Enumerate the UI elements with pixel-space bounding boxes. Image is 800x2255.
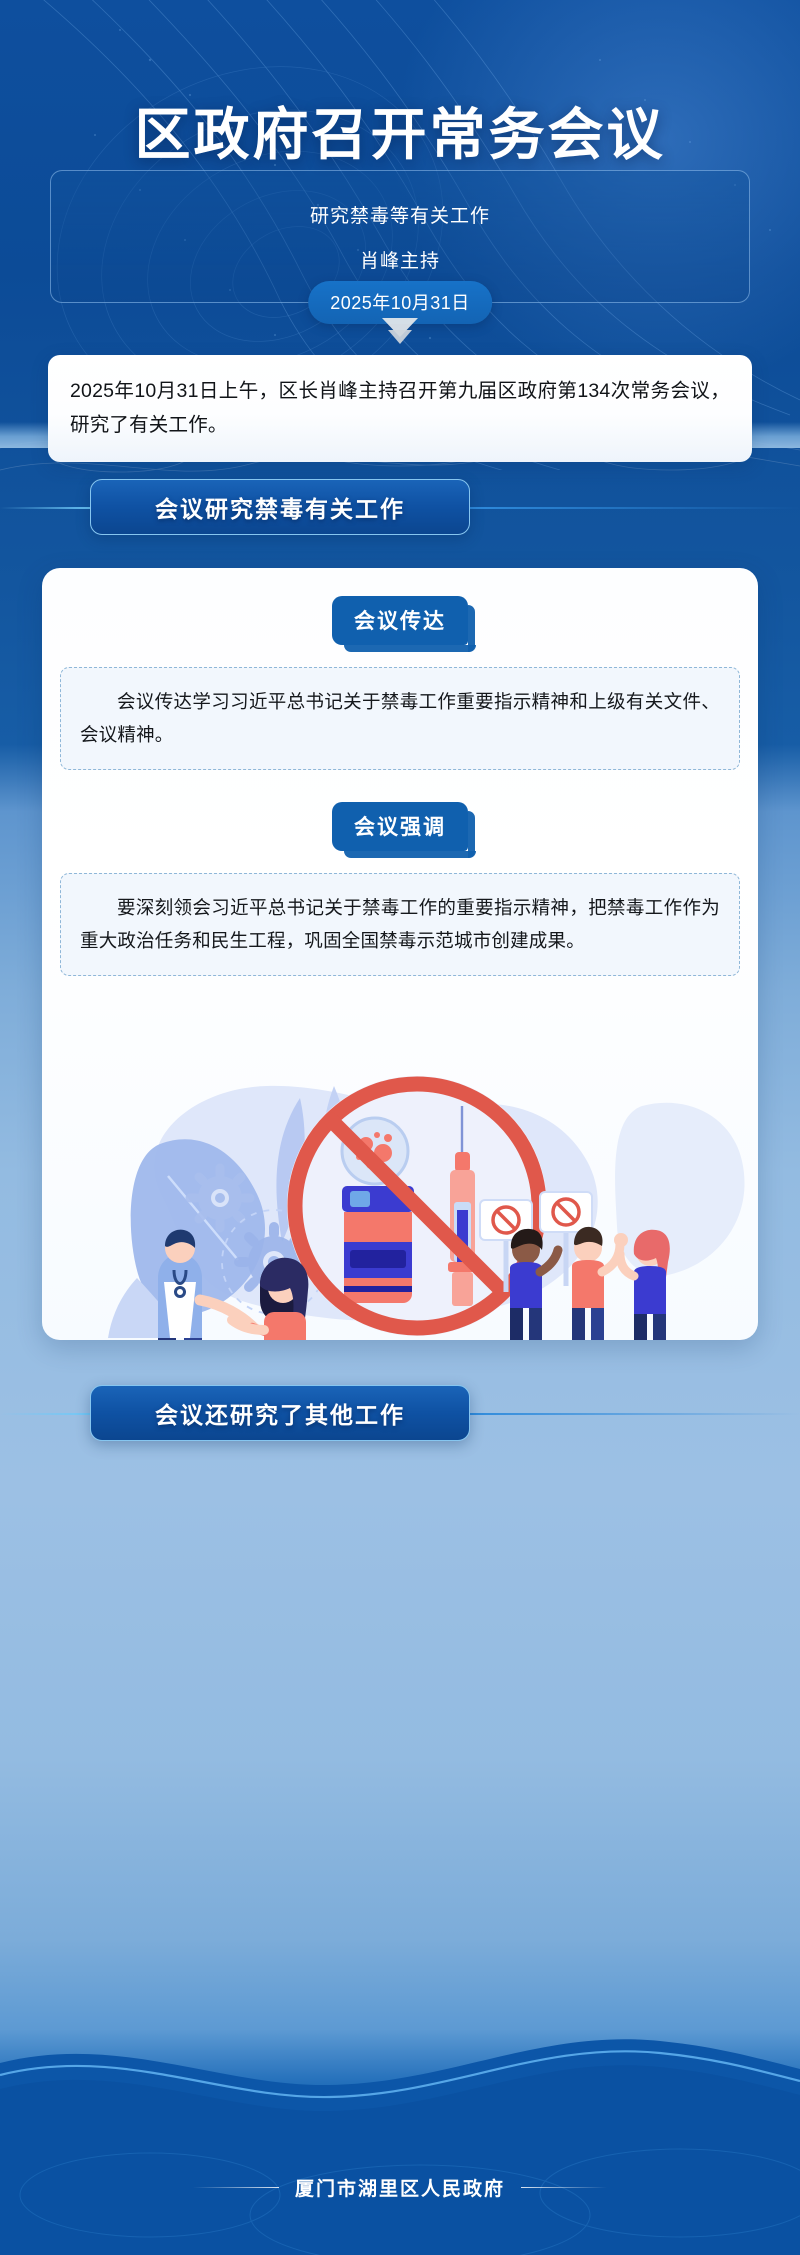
summary-card: 2025年10月31日上午，区长肖峰主持召开第九届区政府第134次常务会议，研究…: [48, 355, 752, 462]
subject-line-1: 研究禁毒等有关工作: [51, 201, 749, 228]
footer-wave: [0, 2025, 800, 2255]
footer: 厦门市湖里区人民政府: [0, 2174, 800, 2201]
subject-line-2: 肖峰主持: [51, 246, 749, 273]
dashed-text-emphasize: 要深刻领会习近平总书记关于禁毒工作的重要指示精神，把禁毒工作作为重大政治任务和民…: [80, 891, 720, 957]
content-card: 会议传达 会议传达学习习近平总书记关于禁毒工作重要指示精神和上级有关文件、会议精…: [42, 568, 758, 1340]
section-banner-label-2: 会议还研究了其他工作: [155, 1396, 405, 1430]
tag-row-transmit: 会议传达: [42, 596, 758, 645]
summary-text: 2025年10月31日上午，区长肖峰主持召开第九届区政府第134次常务会议，研究…: [70, 374, 730, 442]
banner-rule-left-1: [0, 507, 96, 509]
tag-meeting-transmit: 会议传达: [332, 596, 468, 645]
section-banner-other-work: 会议还研究了其他工作: [90, 1385, 470, 1441]
tag-row-emphasize: 会议强调: [42, 802, 758, 851]
footer-organization: 厦门市湖里区人民政府: [295, 2174, 505, 2201]
section-banner-label: 会议研究禁毒有关工作: [155, 490, 405, 524]
banner-rule-left-2: [0, 1413, 96, 1415]
banner-rule-right-2: [470, 1413, 800, 1415]
footer-rule-right: [521, 2187, 607, 2189]
footer-rule-left: [193, 2187, 279, 2189]
dashed-text-transmit: 会议传达学习习近平总书记关于禁毒工作重要指示精神和上级有关文件、会议精神。: [80, 685, 720, 751]
tag-meeting-emphasize: 会议强调: [332, 802, 468, 851]
infographic-poster: 区政府召开常务会议 研究禁毒等有关工作 肖峰主持 2025年10月31日 202…: [0, 0, 800, 2255]
dashed-box-transmit: 会议传达学习习近平总书记关于禁毒工作重要指示精神和上级有关文件、会议精神。: [60, 667, 740, 770]
page-title: 区政府召开常务会议: [0, 90, 800, 171]
dashed-box-emphasize: 要深刻领会习近平总书记关于禁毒工作的重要指示精神，把禁毒工作作为重大政治任务和民…: [60, 873, 740, 976]
arrow-down-secondary-icon: [388, 330, 412, 344]
anti-drug-illustration: [42, 1046, 758, 1340]
section-banner-drug-work: 会议研究禁毒有关工作: [90, 479, 470, 535]
banner-rule-right-1: [470, 507, 800, 509]
